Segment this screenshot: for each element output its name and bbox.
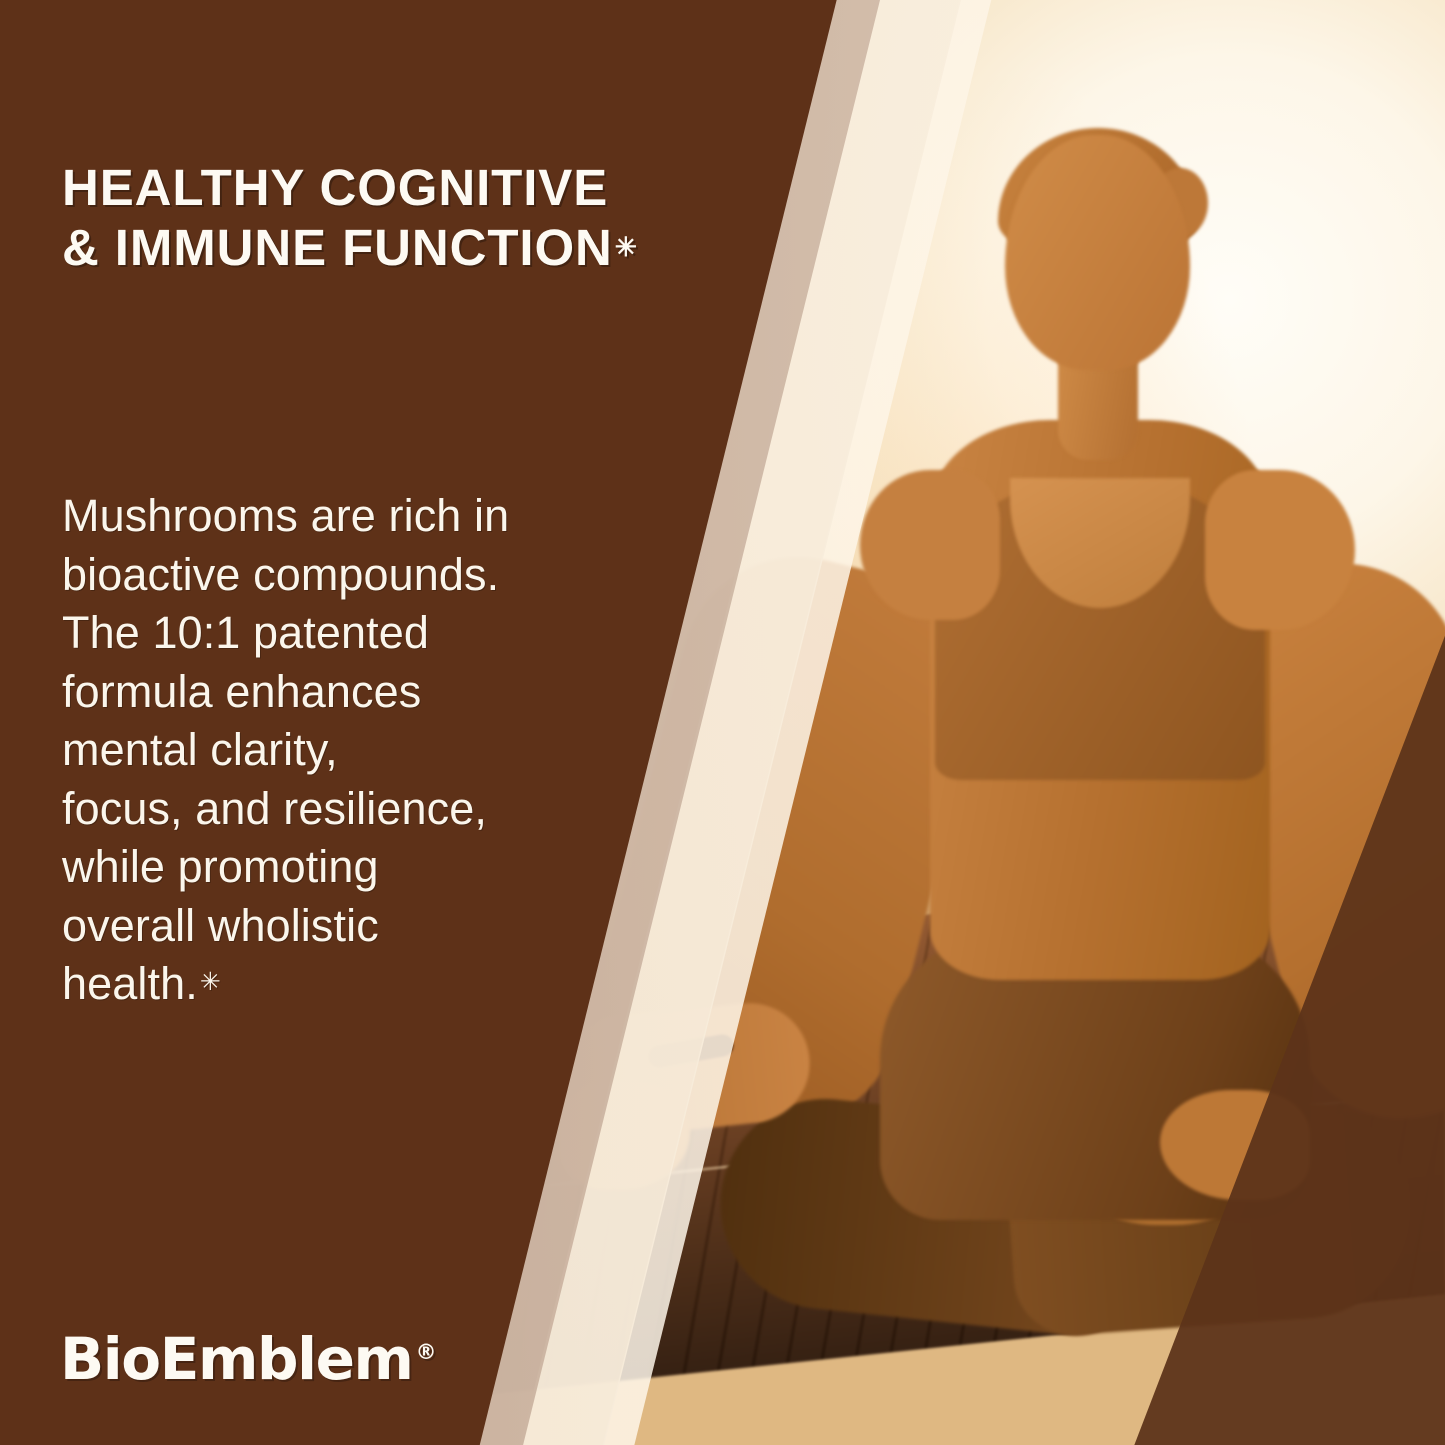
content-layer: HEALTHY COGNITIVE & IMMUNE FUNCTION✳ Mus…	[0, 0, 1445, 1445]
body-line-2: bioactive compounds.	[62, 546, 642, 605]
body-line-7: while promoting	[62, 838, 642, 897]
page-title: HEALTHY COGNITIVE & IMMUNE FUNCTION✳	[62, 158, 762, 277]
body-copy: Mushrooms are rich in bioactive compound…	[62, 487, 642, 1014]
body-line-3: The 10:1 patented	[62, 604, 642, 663]
body-line-8: overall wholistic	[62, 897, 642, 956]
body-line-5: mental clarity,	[62, 721, 642, 780]
product-infographic-card: HEALTHY COGNITIVE & IMMUNE FUNCTION✳ Mus…	[0, 0, 1445, 1445]
headline-line-2: & IMMUNE FUNCTION✳	[62, 218, 762, 278]
brand-logo: BioEmblem®	[60, 1325, 436, 1393]
body-line-9-text: health.	[62, 958, 198, 1009]
registered-trademark-icon: ®	[416, 1340, 437, 1364]
brand-name: BioEmblem	[60, 1325, 413, 1393]
body-line-9: health.✳	[62, 955, 642, 1014]
headline-line-2-text: & IMMUNE FUNCTION	[62, 219, 613, 276]
body-line-6: focus, and resilience,	[62, 780, 642, 839]
body-line-1: Mushrooms are rich in	[62, 487, 642, 546]
body-line-4: formula enhances	[62, 663, 642, 722]
headline-line-1: HEALTHY COGNITIVE	[62, 158, 762, 218]
